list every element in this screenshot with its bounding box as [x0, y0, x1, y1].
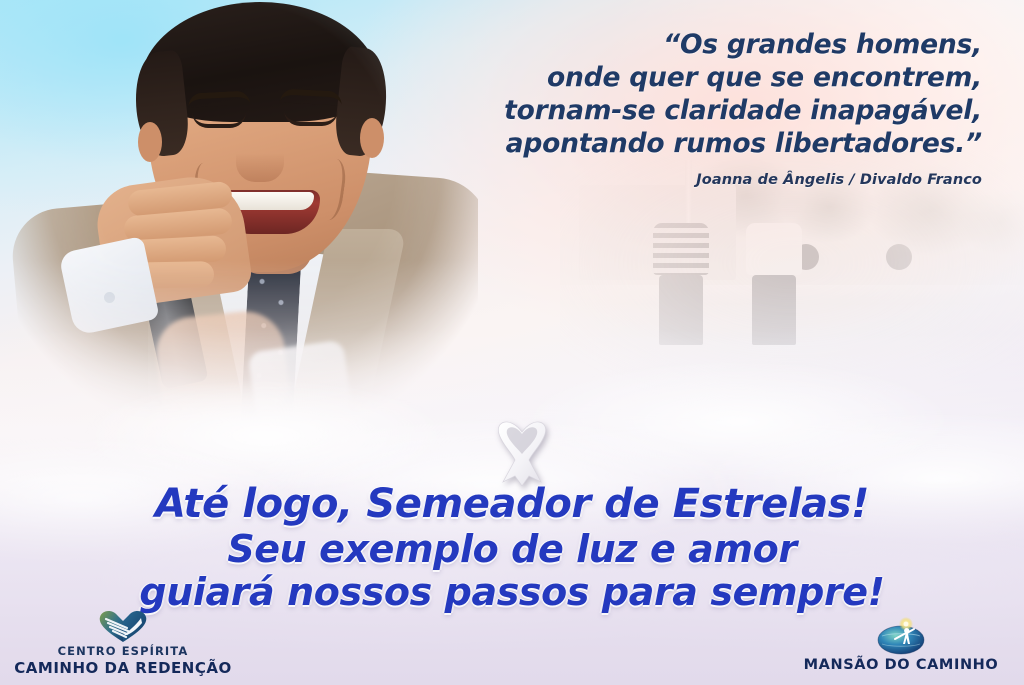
logo-left-line-1: CENTRO ESPÍRITA	[8, 644, 238, 658]
heart-hands-icon	[97, 607, 149, 643]
faded-photo-person-striped	[653, 222, 709, 345]
quote-line-2: onde quer que se encontrem,	[422, 61, 982, 94]
faded-photo-person-white	[746, 222, 802, 345]
logo-right-line-1: MANSÃO DO CAMINHO	[786, 657, 1016, 673]
headline-block: Até logo, Semeador de Estrelas! Seu exem…	[0, 484, 1024, 613]
eye-left	[192, 112, 246, 128]
logo-centro-espirita: CENTRO ESPÍRITA CAMINHO DA REDENÇÃO	[8, 607, 238, 677]
logo-mansao-do-caminho: MANSÃO DO CAMINHO	[786, 617, 1016, 673]
ear-right	[360, 118, 384, 158]
cuff-button	[104, 292, 115, 303]
quote-line-1: “Os grandes homens,	[422, 28, 982, 61]
quote-line-4: apontando rumos libertadores.”	[422, 127, 982, 160]
quote-attribution: Joanna de Ângelis / Divaldo Franco	[422, 172, 982, 188]
globe-figure-icon	[876, 617, 926, 655]
headline-line-1: Até logo, Semeador de Estrelas!	[0, 484, 1024, 526]
quote-block: “Os grandes homens, onde quer que se enc…	[422, 28, 982, 188]
memorial-poster: “Os grandes homens, onde quer que se enc…	[0, 0, 1024, 685]
quote-line-3: tornam-se claridade inapagável,	[422, 94, 982, 127]
white-mourning-ribbon	[489, 412, 555, 486]
shirt-cuff	[58, 236, 160, 336]
logo-left-line-2: CAMINHO DA REDENÇÃO	[8, 659, 238, 677]
nose	[236, 134, 284, 182]
headline-line-2: Seu exemplo de luz e amor	[0, 530, 1024, 570]
eye-right	[284, 110, 338, 126]
ear-left	[138, 122, 162, 162]
